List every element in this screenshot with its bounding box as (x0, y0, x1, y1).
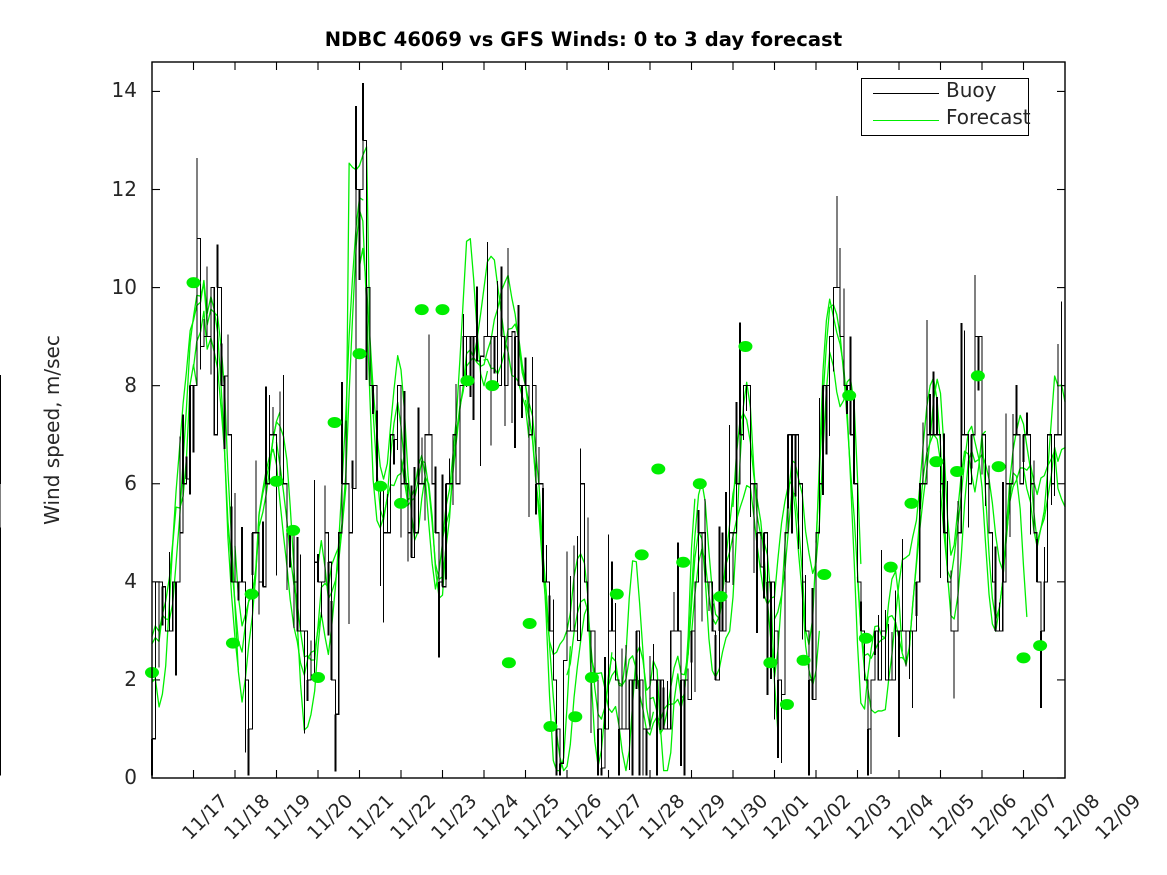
forecast-marker (187, 277, 201, 288)
y-tick-label: 4 (77, 569, 137, 593)
forecast-marker (693, 478, 707, 489)
forecast-marker (436, 304, 450, 315)
legend-entry-forecast: Forecast (862, 106, 1030, 135)
y-tick-label: 6 (77, 471, 137, 495)
legend-swatch-buoy (873, 93, 939, 94)
legend-swatch-forecast (873, 120, 939, 121)
forecast-marker (1017, 652, 1031, 663)
forecast-marker (1033, 640, 1047, 651)
legend[interactable]: Buoy Forecast (861, 78, 1029, 136)
forecast-marker (904, 498, 918, 509)
legend-entry-buoy: Buoy (862, 79, 1030, 108)
y-tick-label: 10 (77, 275, 137, 299)
forecast-marker (568, 711, 582, 722)
forecast-marker (311, 672, 325, 683)
forecast-marker (971, 370, 985, 381)
forecast-marker (797, 655, 811, 666)
y-tick-label: 2 (77, 667, 137, 691)
forecast-marker (226, 638, 240, 649)
forecast-marker (780, 699, 794, 710)
y-tick-label: 8 (77, 373, 137, 397)
legend-label-forecast: Forecast (946, 105, 1031, 129)
forecast-marker (585, 672, 599, 683)
figure-canvas: NDBC 46069 vs GFS Winds: 0 to 3 day fore… (0, 0, 1167, 875)
forecast-marker (394, 498, 408, 509)
forecast-marker (286, 525, 300, 536)
forecast-marker (738, 341, 752, 352)
forecast-marker (714, 591, 728, 602)
series-buoy (0, 83, 1065, 776)
y-tick-label: 0 (77, 765, 137, 789)
forecast-marker (929, 456, 943, 467)
y-tick-label: 14 (77, 78, 137, 102)
forecast-marker (353, 348, 367, 359)
forecast-marker (992, 461, 1006, 472)
forecast-marker (651, 464, 665, 475)
forecast-marker (635, 549, 649, 560)
forecast-marker (328, 417, 342, 428)
forecast-marker (415, 304, 429, 315)
forecast-marker (950, 466, 964, 477)
forecast-marker (485, 380, 499, 391)
forecast-marker (543, 721, 557, 732)
forecast-marker (859, 633, 873, 644)
y-tick-label: 12 (77, 177, 137, 201)
forecast-marker (502, 657, 516, 668)
forecast-marker (245, 589, 259, 600)
forecast-marker (460, 375, 474, 386)
forecast-marker (373, 481, 387, 492)
forecast-marker (270, 476, 284, 487)
forecast-marker (610, 589, 624, 600)
forecast-marker (817, 569, 831, 580)
forecast-marker (523, 618, 537, 629)
legend-label-buoy: Buoy (946, 78, 996, 102)
forecast-marker (676, 557, 690, 568)
forecast-marker (884, 562, 898, 573)
forecast-marker (763, 657, 777, 668)
forecast-marker (842, 390, 856, 401)
